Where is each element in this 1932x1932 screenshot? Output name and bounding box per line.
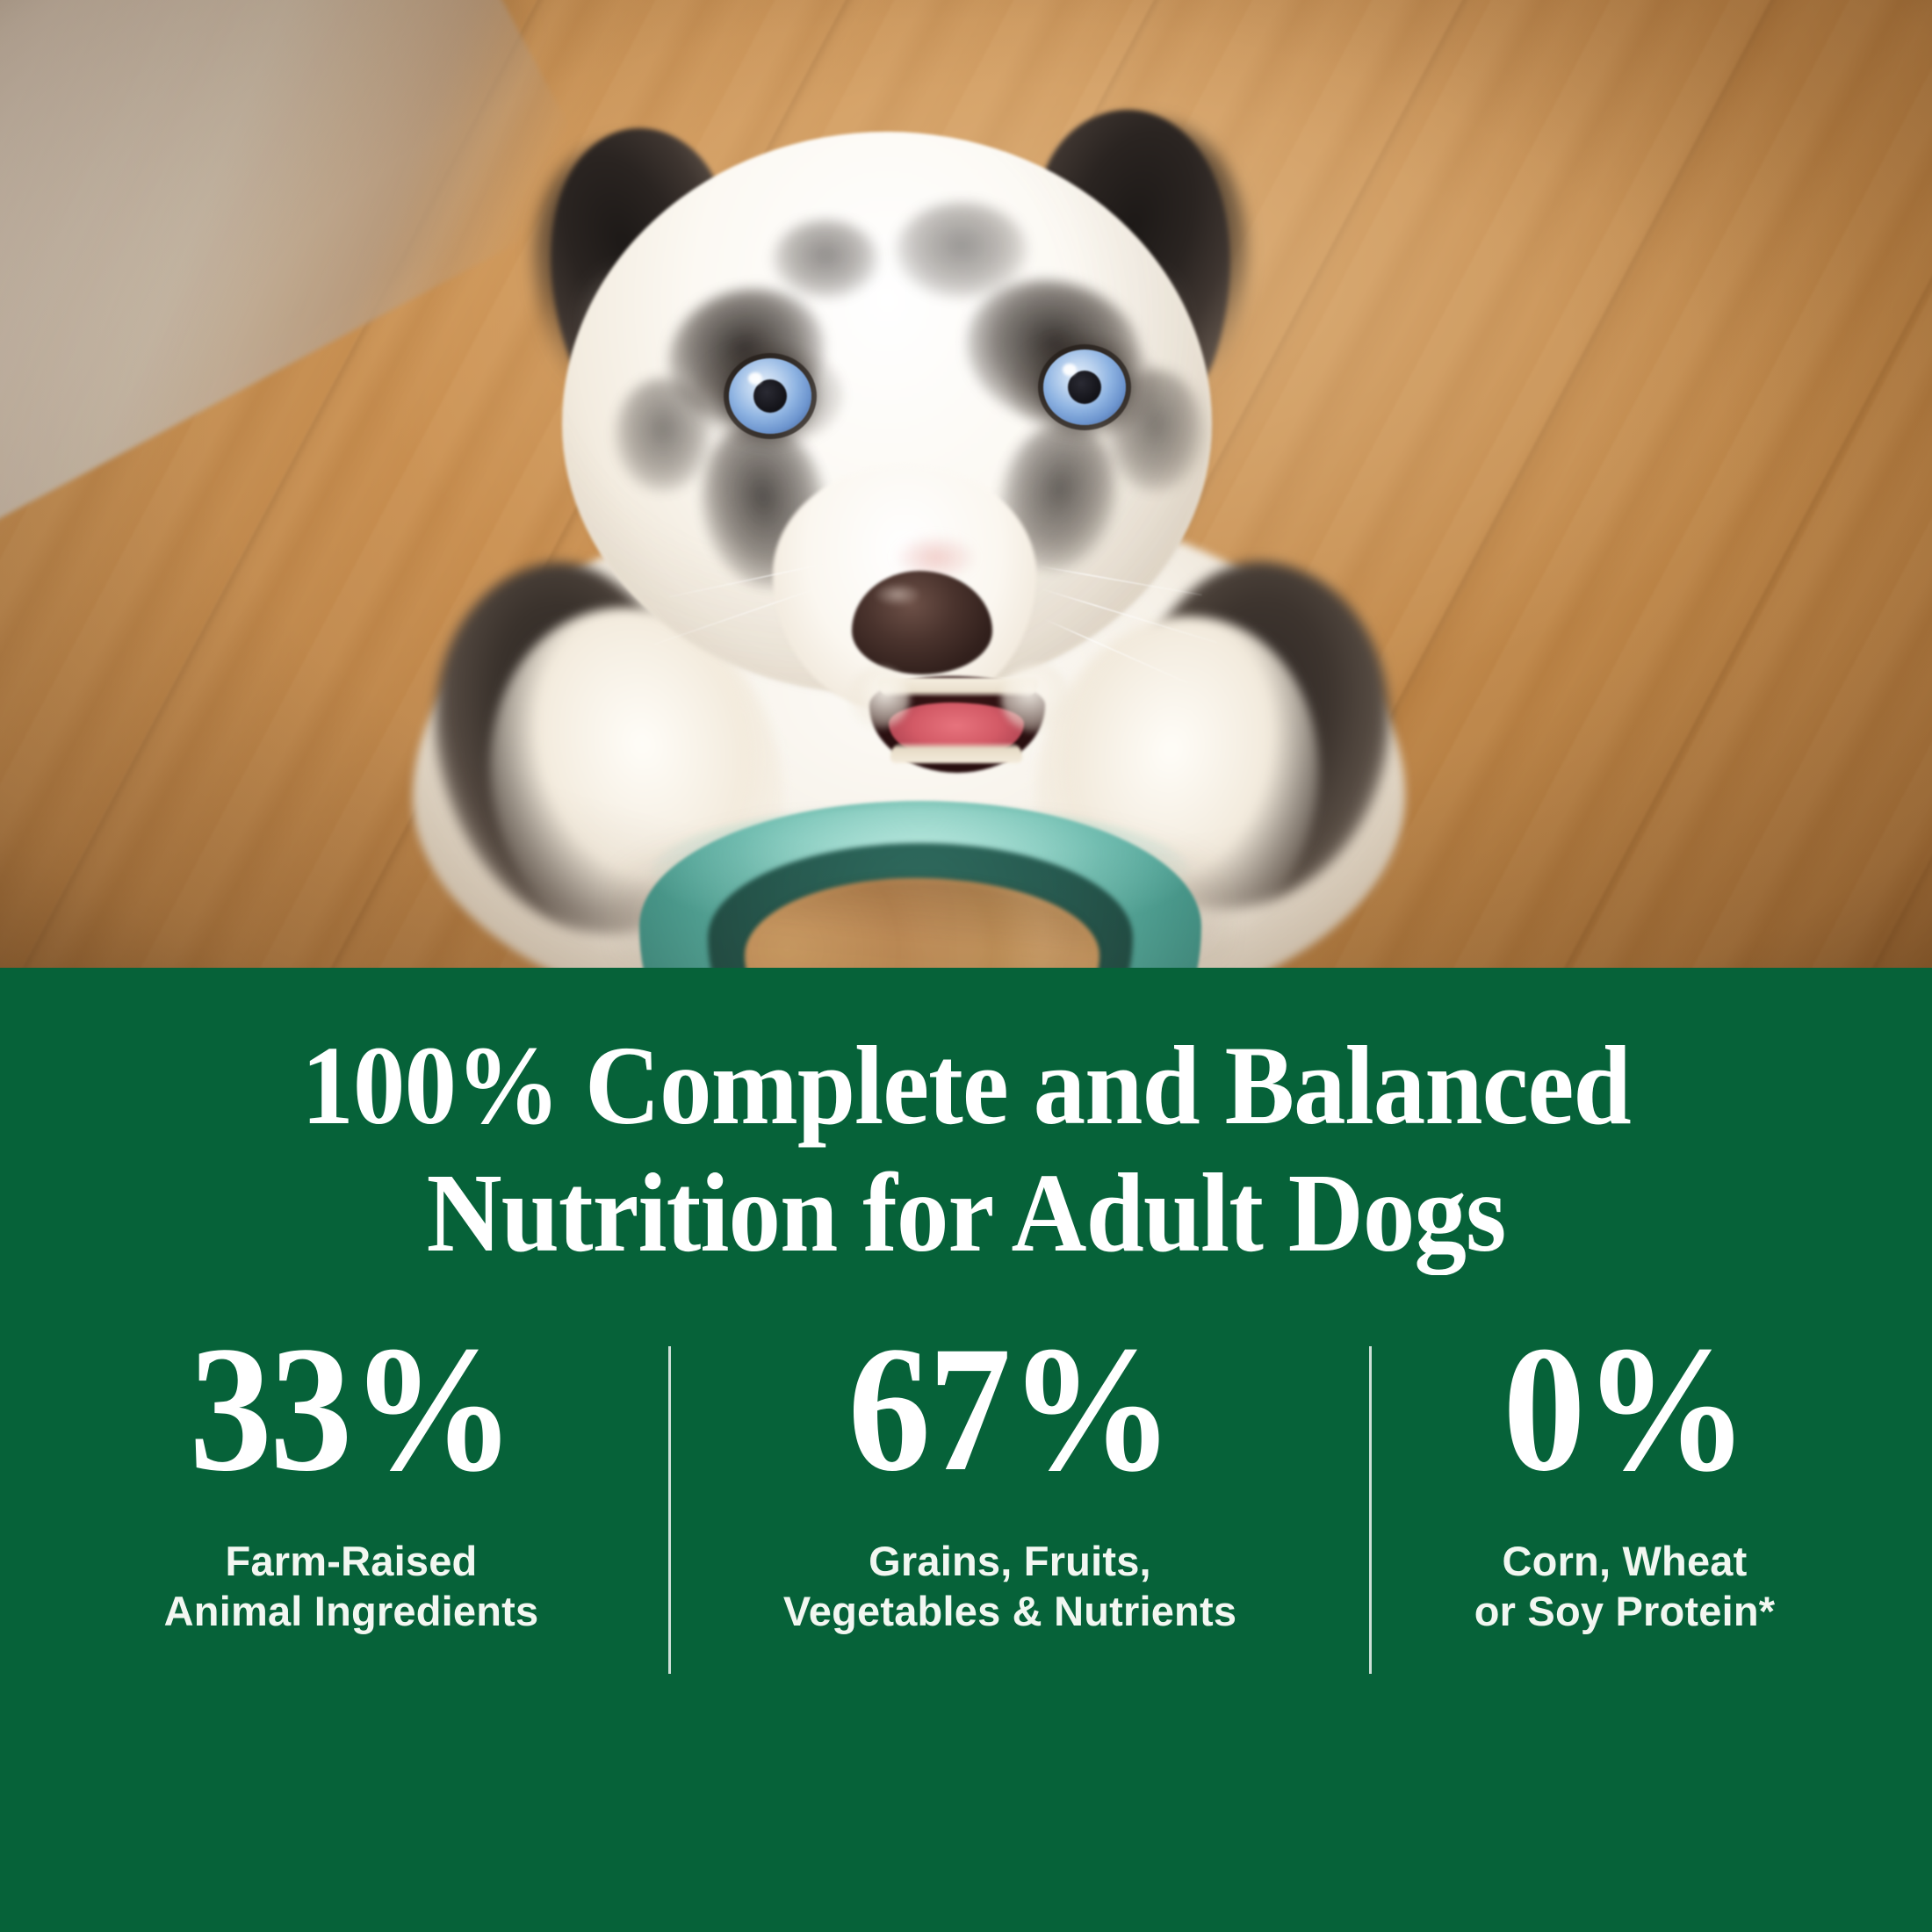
stat-block-grains-fruits: 67% Grains, Fruits, Vegetables & Nutrien… <box>659 1319 1361 1637</box>
dog-lip-left <box>848 667 910 729</box>
stat-block-no-corn-wheat-soy: 0% Corn, Wheat or Soy Protein* <box>1361 1319 1888 1637</box>
stat-label: Farm-Raised Animal Ingredients <box>44 1536 659 1637</box>
stat-label: Corn, Wheat or Soy Protein* <box>1361 1536 1888 1637</box>
dog-pupil-right <box>1068 371 1101 404</box>
claims-panel: 100% Complete and Balanced Nutrition for… <box>0 968 1932 1932</box>
stat-label-line-2: Animal Ingredients <box>44 1586 659 1636</box>
stat-label-line-2: or Soy Protein* <box>1361 1586 1888 1636</box>
stat-value: 33% <box>68 1319 634 1499</box>
hero-photo <box>0 0 1932 968</box>
dog-pupil-left <box>753 379 787 413</box>
stat-label-line-1: Farm-Raised <box>44 1536 659 1586</box>
product-claims-banner: 100% Complete and Balanced Nutrition for… <box>0 0 1932 1932</box>
stat-label-line-1: Grains, Fruits, <box>659 1536 1361 1586</box>
stat-label-line-1: Corn, Wheat <box>1361 1536 1888 1586</box>
dog-nose-highlight <box>875 583 920 606</box>
stat-divider-2 <box>1369 1346 1372 1674</box>
headline-line-1: 100% Complete and Balanced <box>68 1022 1864 1150</box>
stat-block-farm-raised: 33% Farm-Raised Animal Ingredients <box>44 1319 659 1637</box>
dog-merle-marking <box>773 220 878 299</box>
dog-merle-marking <box>896 202 1027 299</box>
headline: 100% Complete and Balanced Nutrition for… <box>68 1022 1864 1276</box>
headline-line-2: Nutrition for Adult Dogs <box>68 1150 1864 1277</box>
stat-value: 67% <box>687 1319 1333 1499</box>
dog-teeth-lower <box>890 742 1022 763</box>
stat-value: 0% <box>1382 1319 1867 1499</box>
dog-eye-glint-left <box>748 372 762 385</box>
dog-eye-glint-right <box>1063 364 1077 376</box>
stat-label: Grains, Fruits, Vegetables & Nutrients <box>659 1536 1361 1637</box>
dog-lip-right <box>1001 664 1071 732</box>
stats-row: 33% Farm-Raised Animal Ingredients 67% G… <box>53 1319 1879 1670</box>
stat-divider-1 <box>668 1346 671 1674</box>
stat-label-line-2: Vegetables & Nutrients <box>659 1586 1361 1636</box>
